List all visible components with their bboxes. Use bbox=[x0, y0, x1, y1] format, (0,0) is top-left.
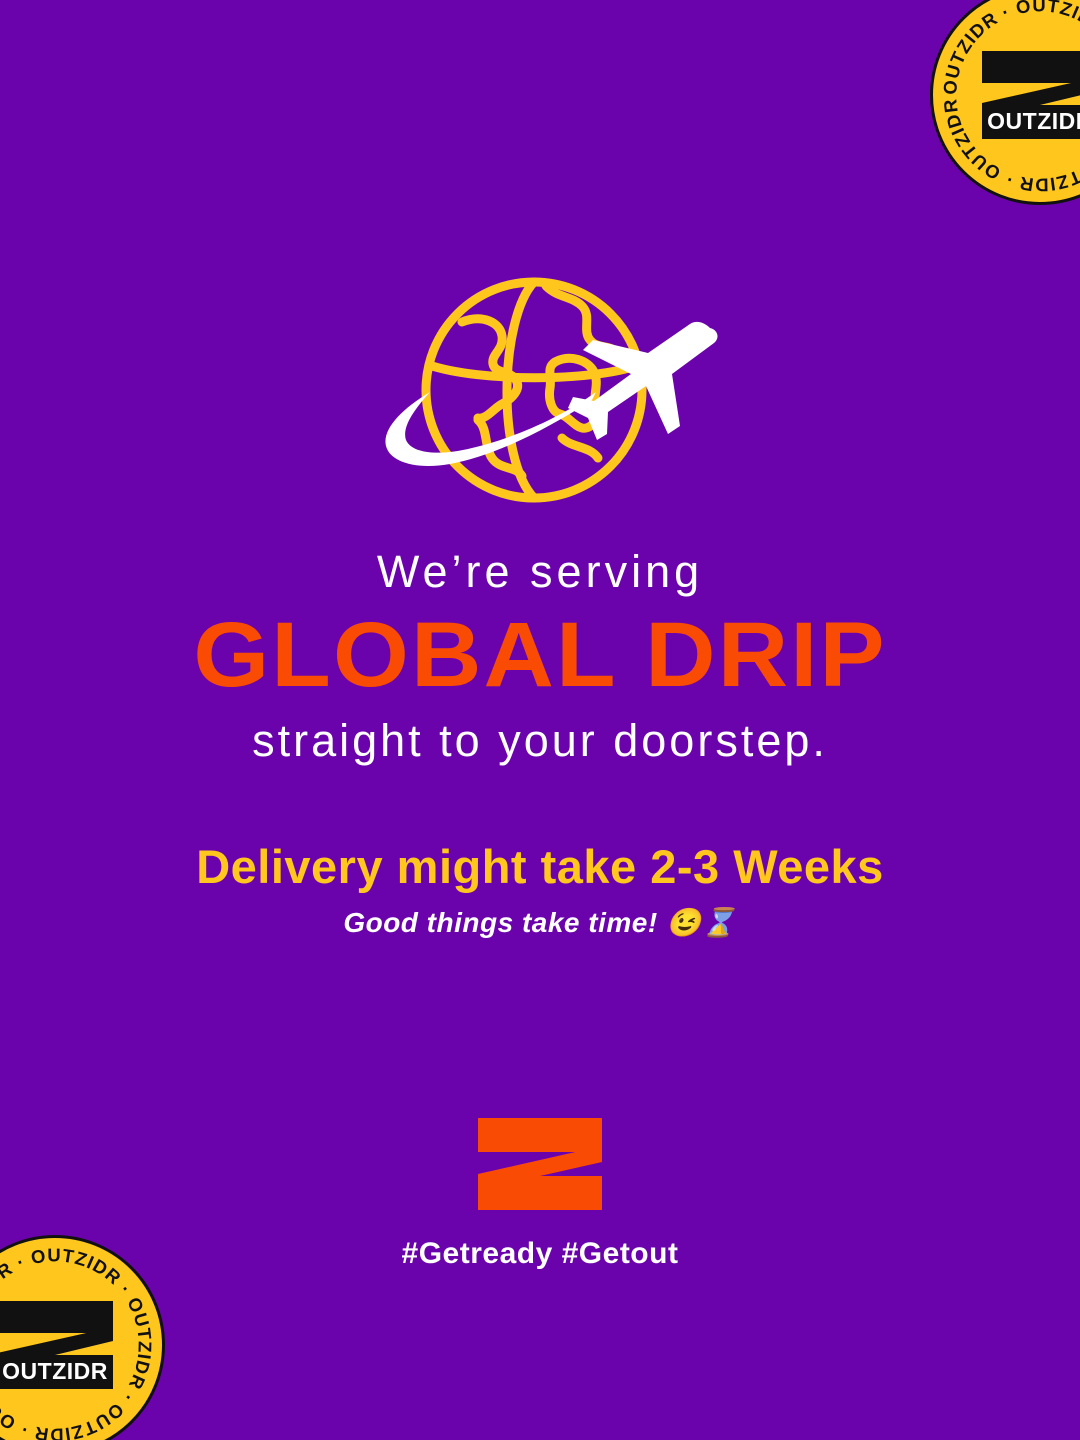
page-title: GLOBAL DRIP bbox=[0, 609, 1080, 701]
headline-suffix: straight to your doorstep. bbox=[0, 717, 1080, 764]
main-copy-block: We’re serving GLOBAL DRIP straight to yo… bbox=[0, 548, 1080, 940]
badge-wordmark: OUTZIDR bbox=[982, 107, 1080, 137]
poster-canvas: OUTZIDR · OUTZIDR · OUTZIDR · OUTZIDR · … bbox=[0, 0, 1080, 1440]
headline-prefix: We’re serving bbox=[0, 548, 1080, 595]
svg-text:OUTZIDR: OUTZIDR bbox=[987, 108, 1080, 134]
delivery-notice: Delivery might take 2-3 Weeks bbox=[0, 841, 1080, 893]
brand-badge-bottom-left: OUTZIDR · OUTZIDR · OUTZIDR · OUTZIDR · … bbox=[0, 1235, 165, 1440]
hashtags: #Getready #Getout bbox=[0, 1237, 1080, 1271]
brand-badge-top-right: OUTZIDR · OUTZIDR · OUTZIDR · OUTZIDR · … bbox=[930, 0, 1080, 205]
globe-with-airplane-illustration bbox=[350, 270, 730, 520]
brand-logo-z-mark bbox=[478, 1118, 602, 1214]
badge-wordmark: OUTZIDR bbox=[0, 1357, 113, 1387]
footer-block: #Getready #Getout bbox=[0, 1118, 1080, 1271]
delivery-subnote: Good things take time! 😉⌛ bbox=[0, 906, 1080, 940]
svg-text:OUTZIDR: OUTZIDR bbox=[2, 1358, 108, 1384]
badge-core-logo: OUTZIDR bbox=[974, 47, 1080, 143]
badge-core-logo: OUTZIDR bbox=[0, 1297, 121, 1393]
